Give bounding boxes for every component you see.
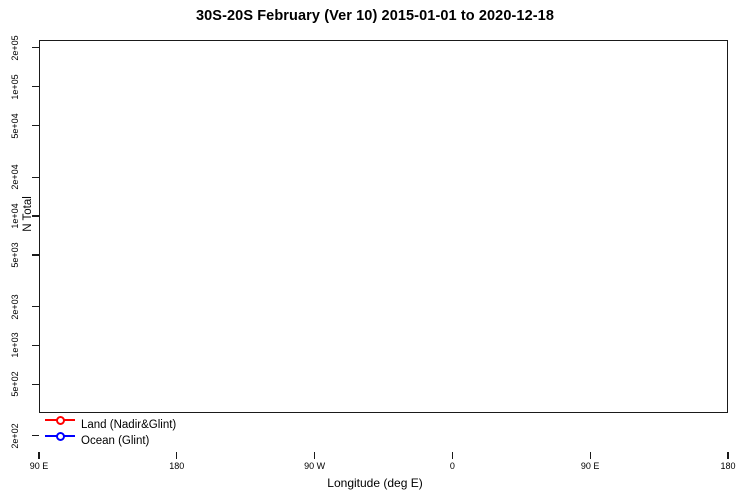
legend-label: Land (Nadir&Glint) <box>81 419 176 431</box>
legend-marker-icon <box>56 432 65 441</box>
x-tick <box>314 452 315 459</box>
y-tick <box>32 306 39 307</box>
x-tick <box>590 452 591 459</box>
y-tick-label-wrap: 2e+04 <box>4 161 26 193</box>
x-axis-label: Longitude (deg E) <box>0 476 750 490</box>
x-tick-label: 180 <box>152 461 202 471</box>
y-tick <box>32 254 39 255</box>
y-tick-label-wrap: 2e+03 <box>4 291 26 323</box>
plot-frame <box>39 40 728 452</box>
y-tick-label-wrap: 5e+02 <box>4 368 26 400</box>
chart-root: 30S-20S February (Ver 10) 2015-01-01 to … <box>0 0 750 500</box>
y-tick <box>32 384 39 385</box>
legend-label: Ocean (Glint) <box>81 435 149 447</box>
y-tick-label: 2e+05 <box>10 23 20 73</box>
y-tick <box>32 177 39 178</box>
y-tick <box>32 215 39 216</box>
y-tick <box>32 125 39 126</box>
y-tick <box>32 345 39 346</box>
x-tick <box>38 452 39 459</box>
chart-title: 30S-20S February (Ver 10) 2015-01-01 to … <box>0 8 750 24</box>
y-tick-label-wrap: 1e+04 <box>4 200 26 232</box>
y-tick <box>32 47 39 48</box>
legend-marker-icon <box>56 416 65 425</box>
x-tick <box>176 452 177 459</box>
y-tick-label-wrap: 1e+03 <box>4 329 26 361</box>
y-tick-label-wrap: 1e+05 <box>4 71 26 103</box>
y-tick <box>32 86 39 87</box>
y-tick-label-wrap: 5e+04 <box>4 110 26 142</box>
y-tick <box>32 435 39 436</box>
x-tick-label: 0 <box>427 461 477 471</box>
x-tick <box>727 452 728 459</box>
legend: Land (Nadir&Glint)Ocean (Glint) <box>39 412 728 452</box>
y-tick-label-wrap: 2e+02 <box>4 420 26 452</box>
x-tick <box>452 452 453 459</box>
x-tick-label: 90 E <box>565 461 615 471</box>
y-tick-label: 2e+04 <box>10 152 20 202</box>
x-tick-label: 90 E <box>14 461 64 471</box>
x-tick-label: 180 <box>703 461 750 471</box>
x-tick-label: 90 W <box>290 461 340 471</box>
y-tick-label-wrap: 5e+03 <box>4 239 26 271</box>
y-tick-label-wrap: 2e+05 <box>4 32 26 64</box>
y-tick-label: 2e+02 <box>10 411 20 461</box>
y-tick-label: 2e+03 <box>10 282 20 332</box>
